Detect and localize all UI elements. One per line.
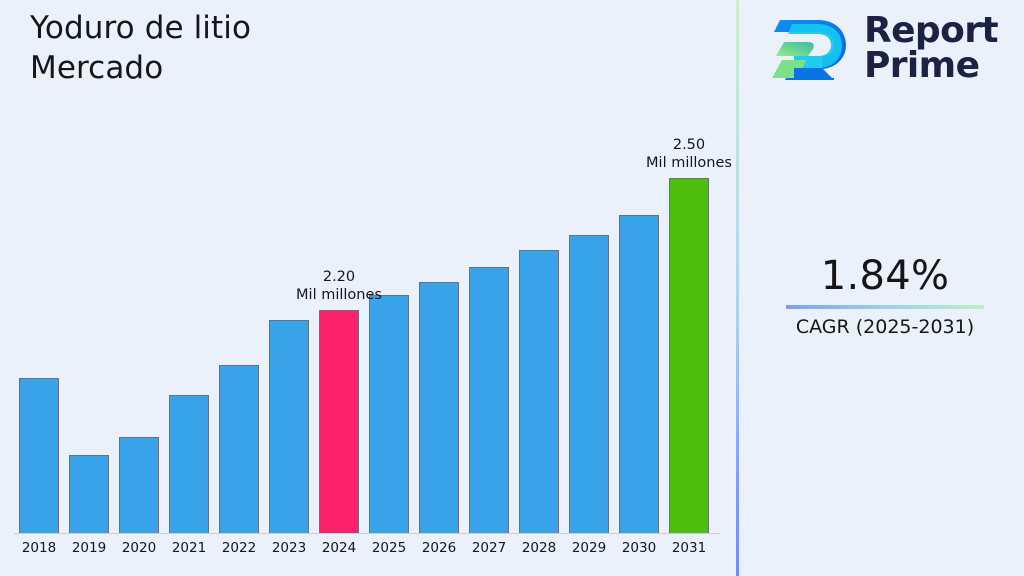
brand-logo-text: Report Prime [864,14,998,83]
chart-bar [169,395,209,534]
chart-bar [369,295,409,534]
bar-chart: 20182019202020212022202320242.20Mil mill… [0,0,736,576]
x-axis-tick-label: 2027 [464,540,514,556]
x-axis-tick-label: 2024 [314,540,364,556]
chart-bar [419,282,459,534]
x-axis-tick-label: 2026 [414,540,464,556]
x-axis-tick-label: 2020 [114,540,164,556]
x-axis-tick-label: 2028 [514,540,564,556]
bar-value-annotation: 2.20Mil millones [269,268,409,304]
chart-bar [69,455,109,534]
chart-bar [569,235,609,534]
x-axis-tick-label: 2025 [364,540,414,556]
brand-logo-word-1: Report [864,14,998,49]
bar-value-unit: Mil millones [269,286,409,304]
chart-bar [269,320,309,534]
brand-logo-word-2: Prime [864,49,998,84]
bar-value-number: 2.50 [619,136,759,154]
x-axis-tick-label: 2030 [614,540,664,556]
report-prime-logo-icon [772,12,850,86]
x-axis-tick-label: 2021 [164,540,214,556]
x-axis-tick-label: 2023 [264,540,314,556]
panel-divider [736,0,739,576]
bar-value-annotation: 2.50Mil millones [619,136,759,172]
bar-value-unit: Mil millones [619,154,759,172]
chart-bar [319,310,359,534]
x-axis-tick-label: 2019 [64,540,114,556]
x-axis-tick-label: 2029 [564,540,614,556]
cagr-value: 1.84% [760,252,1010,300]
brand-logo: Report Prime [772,12,998,86]
cagr-caption: CAGR (2025-2031) [760,315,1010,339]
x-axis-tick-label: 2031 [664,540,714,556]
chart-bar [619,215,659,534]
x-axis-tick-label: 2018 [14,540,64,556]
cagr-panel: 1.84% CAGR (2025-2031) [760,252,1010,339]
chart-plot-area [0,0,736,534]
chart-bar [519,250,559,534]
chart-bar [119,437,159,534]
chart-bar [469,267,509,534]
bar-value-number: 2.20 [269,268,409,286]
cagr-divider [786,305,984,309]
chart-bar [219,365,259,534]
chart-bar [669,178,709,534]
chart-bar [19,378,59,534]
chart-baseline-axis [14,533,720,534]
x-axis-tick-label: 2022 [214,540,264,556]
